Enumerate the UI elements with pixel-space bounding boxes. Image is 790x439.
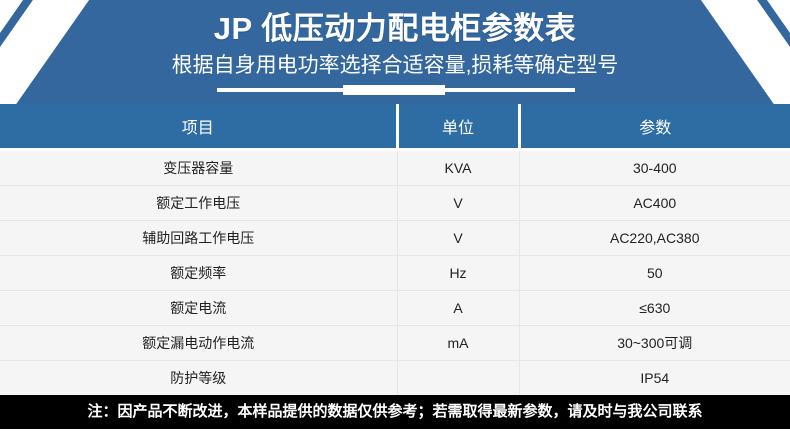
cell-param: ≤630 bbox=[519, 291, 790, 326]
page-subtitle: 根据自身用电功率选择合适容量,损耗等确定型号 bbox=[0, 49, 790, 79]
table-row: 额定工作电压 V AC400 bbox=[0, 186, 790, 221]
table-row: 额定漏电动作电流 mA 30~300可调 bbox=[0, 326, 790, 361]
cell-item: 额定电流 bbox=[0, 291, 397, 326]
cell-item: 额定频率 bbox=[0, 256, 397, 291]
header-banner: JP 低压动力配电柜参数表 根据自身用电功率选择合适容量,损耗等确定型号 bbox=[0, 0, 790, 104]
cell-unit: KVA bbox=[397, 150, 519, 186]
specs-table: 项目 单位 参数 变压器容量 KVA 30-400 额定工作电压 V AC400… bbox=[0, 104, 790, 395]
cell-item: 额定工作电压 bbox=[0, 186, 397, 221]
column-header-param: 参数 bbox=[519, 104, 790, 150]
cell-param: AC400 bbox=[519, 186, 790, 221]
cell-param: AC220,AC380 bbox=[519, 221, 790, 256]
cell-unit: V bbox=[397, 186, 519, 221]
cell-param: 30-400 bbox=[519, 150, 790, 186]
cell-unit: A bbox=[397, 291, 519, 326]
cell-param: 50 bbox=[519, 256, 790, 291]
cell-item: 防护等级 bbox=[0, 361, 397, 396]
banner-text-block: JP 低压动力配电柜参数表 根据自身用电功率选择合适容量,损耗等确定型号 bbox=[0, 0, 790, 79]
table-row: 变压器容量 KVA 30-400 bbox=[0, 150, 790, 186]
specs-table-body: 变压器容量 KVA 30-400 额定工作电压 V AC400 辅助回路工作电压… bbox=[0, 150, 790, 396]
table-row: 额定电流 A ≤630 bbox=[0, 291, 790, 326]
page-title: JP 低压动力配电柜参数表 bbox=[0, 0, 790, 49]
table-row: 防护等级 IP54 bbox=[0, 361, 790, 396]
cell-unit: Hz bbox=[397, 256, 519, 291]
cell-item: 额定漏电动作电流 bbox=[0, 326, 397, 361]
column-header-item: 项目 bbox=[0, 104, 397, 150]
table-row: 辅助回路工作电压 V AC220,AC380 bbox=[0, 221, 790, 256]
banner-divider-rule-center bbox=[343, 85, 445, 95]
parameter-table-page: JP 低压动力配电柜参数表 根据自身用电功率选择合适容量,损耗等确定型号 项目 … bbox=[0, 0, 790, 439]
column-header-unit: 单位 bbox=[397, 104, 519, 150]
cell-param: 30~300可调 bbox=[519, 326, 790, 361]
table-header-row: 项目 单位 参数 bbox=[0, 104, 790, 150]
specs-table-head: 项目 单位 参数 bbox=[0, 104, 790, 150]
footer-disclaimer-note: 注：因产品不断改进，本样品提供的数据仅供参考；若需取得最新参数，请及时与我公司联… bbox=[0, 395, 790, 429]
cell-unit: mA bbox=[397, 326, 519, 361]
cell-param: IP54 bbox=[519, 361, 790, 396]
cell-unit bbox=[397, 361, 519, 396]
cell-item: 变压器容量 bbox=[0, 150, 397, 186]
cell-item: 辅助回路工作电压 bbox=[0, 221, 397, 256]
cell-unit: V bbox=[397, 221, 519, 256]
table-row: 额定频率 Hz 50 bbox=[0, 256, 790, 291]
